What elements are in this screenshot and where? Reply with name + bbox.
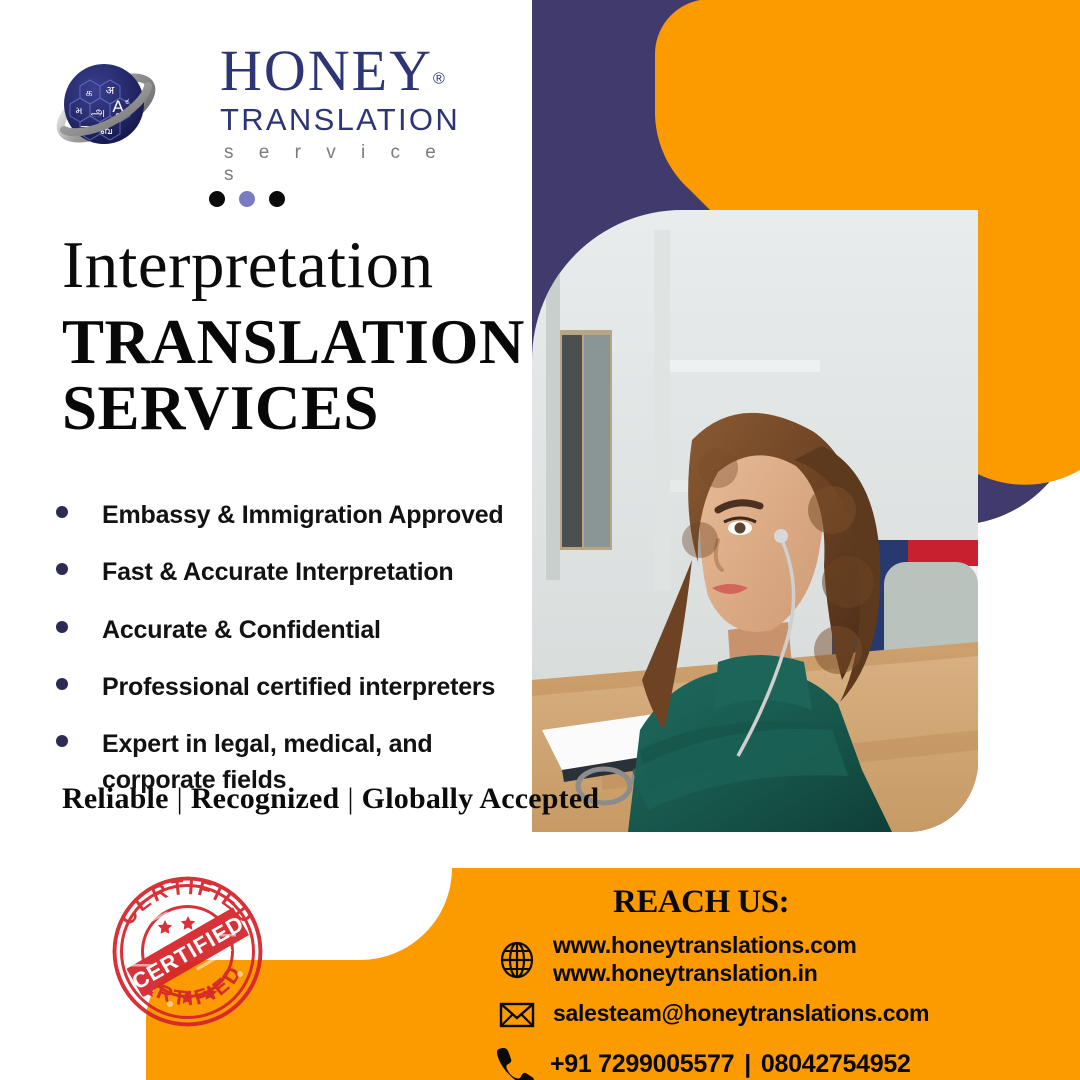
- tagline-part-2: Recognized: [191, 782, 340, 815]
- list-item: Embassy & Immigration Approved: [56, 497, 556, 533]
- tagline: Reliable|Recognized|Globally Accepted: [62, 782, 599, 816]
- headline-bold-line-2: SERVICES: [62, 375, 532, 441]
- logo-name-primary: HONEY®: [220, 42, 470, 100]
- envelope-icon: [495, 992, 539, 1036]
- contact-heading: REACH US:: [613, 884, 789, 921]
- svg-text:க: க: [85, 86, 92, 99]
- logo-dots: [209, 191, 285, 207]
- svg-text:ಕ: ಕ: [125, 97, 129, 107]
- headline-bold-line-1: TRANSLATION: [62, 309, 532, 375]
- headline-script-line: Interpretation: [62, 232, 532, 299]
- dot-3: [269, 191, 285, 207]
- brand-logo[interactable]: க अ ಕ મ அ ల ア ബ A HONEY® TRANSLATION s e…: [52, 42, 472, 182]
- tagline-part-1: Reliable: [62, 782, 169, 815]
- feature-list: Embassy & Immigration Approved Fast & Ac…: [56, 497, 556, 820]
- bullet-dot-icon: [56, 678, 68, 690]
- feature-label: Professional certified interpreters: [102, 669, 495, 705]
- phone-icon: [488, 1040, 536, 1080]
- list-item: Fast & Accurate Interpretation: [56, 554, 556, 590]
- globe-icon: [495, 938, 539, 982]
- poster-canvas: க अ ಕ મ அ ల ア ബ A HONEY® TRANSLATION s e…: [0, 0, 1080, 1080]
- photo-illustration: [532, 210, 978, 832]
- bullet-dot-icon: [56, 563, 68, 575]
- dot-1: [209, 191, 225, 207]
- logo-honey-text: HONEY: [220, 42, 433, 100]
- phone-1[interactable]: +91 7299005577: [550, 1050, 734, 1078]
- tagline-separator-2: |: [339, 782, 361, 815]
- email-address[interactable]: salesteam@honeytranslations.com: [553, 1000, 929, 1028]
- hero-photo: [532, 210, 978, 832]
- phone-separator: |: [734, 1050, 761, 1078]
- logo-wordmark: HONEY® TRANSLATION s e r v i c e s: [220, 42, 470, 186]
- globe-languages-icon: க अ ಕ મ அ ల ア ബ A: [52, 52, 160, 160]
- contact-row-website[interactable]: www.honeytranslations.com www.honeytrans…: [495, 932, 856, 987]
- feature-label: Accurate & Confidential: [102, 612, 381, 648]
- bullet-dot-icon: [56, 735, 68, 747]
- feature-label: Fast & Accurate Interpretation: [102, 554, 453, 590]
- svg-text:அ: அ: [91, 105, 105, 120]
- page-title: Interpretation TRANSLATION SERVICES: [62, 232, 532, 441]
- contact-row-email[interactable]: salesteam@honeytranslations.com: [495, 992, 929, 1036]
- list-item: Professional certified interpreters: [56, 669, 556, 705]
- bullet-dot-icon: [56, 506, 68, 518]
- list-item: Accurate & Confidential: [56, 612, 556, 648]
- dot-2: [239, 191, 255, 207]
- feature-label: Embassy & Immigration Approved: [102, 497, 504, 533]
- logo-name-secondary: TRANSLATION: [220, 102, 470, 138]
- website-1[interactable]: www.honeytranslations.com: [553, 932, 856, 958]
- logo-name-tertiary: s e r v i c e s: [220, 142, 470, 186]
- website-2[interactable]: www.honeytranslation.in: [553, 960, 817, 986]
- phone-2[interactable]: 08042754952: [761, 1050, 911, 1078]
- tagline-separator-1: |: [169, 782, 191, 815]
- registered-mark-icon: ®: [433, 71, 445, 88]
- svg-text:મ: મ: [75, 106, 82, 117]
- contact-row-phone[interactable]: +91 7299005577|08042754952: [488, 1040, 911, 1080]
- svg-text:अ: अ: [106, 84, 115, 97]
- bullet-dot-icon: [56, 621, 68, 633]
- contact-panel: REACH US: www.honeytranslations.com www.…: [140, 868, 1080, 1080]
- tagline-part-3: Globally Accepted: [362, 782, 600, 815]
